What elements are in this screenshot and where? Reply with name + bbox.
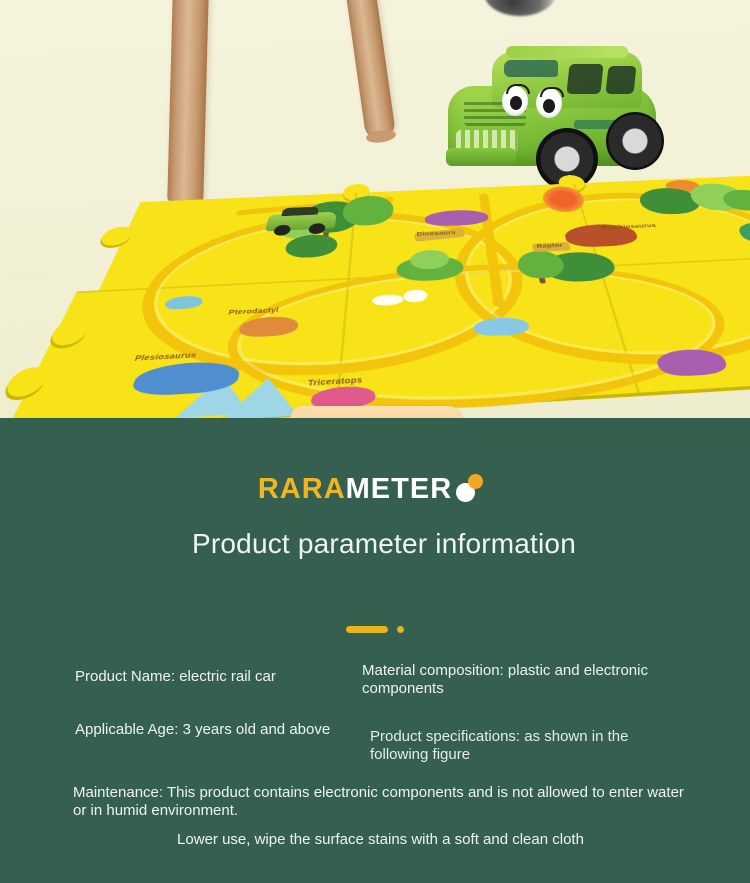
page-title: Product parameter information xyxy=(192,524,612,564)
brand-word-secondary: METER xyxy=(346,473,453,506)
brand-dots-decoration xyxy=(452,473,492,503)
car-window-rear xyxy=(606,66,637,94)
wooden-table-leg-left xyxy=(167,0,208,202)
product-parameter-panel: RARAMETER Product parameter information … xyxy=(0,418,750,883)
car-eyebrow-right xyxy=(540,87,564,97)
car-pupil-left xyxy=(510,96,522,110)
spec-material-composition: Material composition: plastic and electr… xyxy=(362,662,682,699)
car-window-front xyxy=(566,64,603,94)
divider-bar xyxy=(346,626,388,633)
toy-car-green-suv xyxy=(440,42,668,192)
car-pupil-right xyxy=(543,99,555,113)
car-windshield xyxy=(504,60,558,77)
puzzle-play-mat: Dinosaurs Raptor Pterodactyl Plesiosauru… xyxy=(33,175,750,418)
mat-printed-car xyxy=(265,212,337,232)
brand-word-primary: RARA xyxy=(258,473,346,506)
spec-product-specifications: Product specifications: as shown in the … xyxy=(370,728,660,765)
car-wheel-rear xyxy=(606,112,664,170)
spec-cleaning-instruction: Lower use, wipe the surface stains with … xyxy=(73,831,688,849)
wooden-table-leg-right xyxy=(346,0,397,141)
car-bumper xyxy=(446,148,516,166)
hero-product-photo: Dinosaurs Raptor Pterodactyl Plesiosauru… xyxy=(0,0,750,418)
spec-applicable-age: Applicable Age: 3 years old and above xyxy=(75,721,335,739)
car-eye-right-icon xyxy=(536,88,562,118)
brand-wordmark: RARAMETER xyxy=(0,473,750,506)
spec-product-name: Product Name: electric rail car xyxy=(75,668,355,686)
car-roof-rack xyxy=(506,46,628,58)
car-eyebrow-left xyxy=(506,84,530,94)
brand-dot-orange-icon xyxy=(468,474,483,489)
title-underline-divider xyxy=(0,621,750,639)
background-shadow-object xyxy=(484,0,556,16)
product-detail-page: Dinosaurs Raptor Pterodactyl Plesiosauru… xyxy=(0,0,750,883)
spec-maintenance: Maintenance: This product contains elect… xyxy=(73,784,688,821)
divider-dot xyxy=(397,626,404,633)
car-eye-left-icon xyxy=(502,86,528,116)
